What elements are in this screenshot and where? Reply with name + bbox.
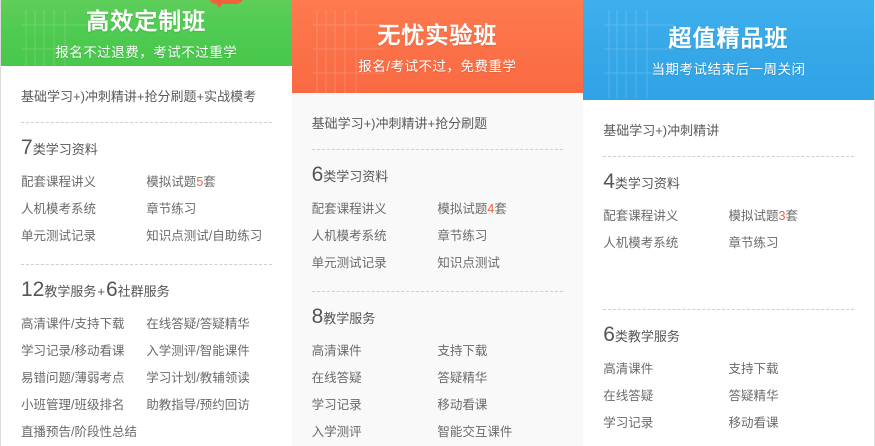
spacer <box>603 281 854 309</box>
list-item[interactable]: 在线答疑/答疑精华 <box>146 311 271 338</box>
list-item[interactable]: 支持下载 <box>437 338 563 365</box>
spacer <box>603 267 854 281</box>
divider <box>312 291 564 292</box>
plan-body-2: 基础学习+)冲刺精讲+抢分刷题 6类学习资料 配套课程讲义 模拟试题4套 人机模… <box>292 93 584 446</box>
plan-header-3: 超值精品班 当期考试结束后一周关闭 <box>583 0 874 100</box>
list-item[interactable]: 人机模考系统 <box>603 230 728 257</box>
list-item-text: 小班管理/班级排名 <box>21 398 124 412</box>
list-item-text: 移动看课 <box>437 398 487 412</box>
services-label-1: 教学服务 <box>44 284 96 299</box>
plan-body-1: 基础学习+)冲刺精讲+抢分刷题+实战模考 7类学习资料 配套课程讲义 模拟试题5… <box>1 66 292 446</box>
materials-list-2: 配套课程讲义 模拟试题4套 人机模考系统 章节练习 单元测试记录 知识点测试 <box>312 196 564 277</box>
list-item-text: 配套课程讲义 <box>21 175 96 189</box>
list-item[interactable]: 人机模考系统 <box>312 223 438 250</box>
plan-subtitle-1: 报名不过退费，考试不过重学 <box>1 41 292 65</box>
list-item[interactable]: 移动看课 <box>728 410 853 437</box>
list-item[interactable]: 入学测评/智能课件 <box>146 338 271 365</box>
list-item-text: 学习记录 <box>603 416 653 430</box>
list-item-text: 支持下载 <box>437 344 487 358</box>
list-item-suffix: 套 <box>785 209 798 223</box>
services-plus-1: + <box>96 284 106 299</box>
plan-combo-1: 基础学习+)冲刺精讲+抢分刷题+实战模考 <box>21 82 272 122</box>
list-item-text: 在线答疑 <box>603 389 653 403</box>
list-item[interactable]: 高清课件/支持下载 <box>21 311 146 338</box>
divider <box>603 156 854 157</box>
plan-header-text-2: 无忧实验班 报名/考试不过，免费重学 <box>292 15 584 79</box>
list-item[interactable]: 智能交互课件 <box>437 419 563 446</box>
list-item[interactable]: 章节练习 <box>437 223 563 250</box>
list-item-text: 人机模考系统 <box>21 202 96 216</box>
divider <box>603 309 854 310</box>
spacer <box>603 257 854 267</box>
services-label-3: 类教学服务 <box>615 329 680 344</box>
spacer <box>21 250 272 264</box>
list-item-suffix: 套 <box>203 175 216 189</box>
materials-heading-1: 7类学习资料 <box>21 135 272 163</box>
plan-header-1: 高效定制班 HOT 报名不过退费，考试不过重学 <box>1 0 292 66</box>
list-item-text: 高清课件 <box>312 344 362 358</box>
list-item-text: 答疑精华 <box>728 389 778 403</box>
list-item[interactable]: 章节练习 <box>146 196 271 223</box>
plan-comparison: 高效定制班 HOT 报名不过退费，考试不过重学 基础学习+)冲刺精讲+抢分刷题+… <box>0 0 875 446</box>
services-label-2: 教学服务 <box>323 311 375 326</box>
list-item[interactable]: 模拟试题5套 <box>146 169 271 196</box>
list-item[interactable]: 知识点测试/自助练习 <box>146 223 271 250</box>
list-item[interactable]: 配套课程讲义 <box>21 169 146 196</box>
services-count-1: 12 <box>21 278 44 301</box>
list-item[interactable]: 知识点测试 <box>437 250 563 277</box>
services-heading-3: 6类教学服务 <box>603 322 854 350</box>
services-list-3: 高清课件 支持下载 在线答疑 答疑精华 学习记录 移动看课 <box>603 356 854 437</box>
list-item-text: 答疑精华 <box>437 371 487 385</box>
services-label2-1: 社群服务 <box>118 284 170 299</box>
plan-subtitle-3: 当期考试结束后一周关闭 <box>583 58 874 82</box>
list-item[interactable]: 单元测试记录 <box>312 250 438 277</box>
plan-header-2: 无忧实验班 报名/考试不过，免费重学 <box>292 0 584 93</box>
list-item[interactable]: 模拟试题4套 <box>437 196 563 223</box>
spacer <box>312 277 564 291</box>
materials-label-3: 类学习资料 <box>615 176 680 191</box>
list-item[interactable]: 高清课件 <box>312 338 438 365</box>
list-item[interactable]: 学习记录/移动看课 <box>21 338 146 365</box>
list-item[interactable]: 直播预告/阶段性总结 <box>21 419 146 446</box>
plan-subtitle-2: 报名/考试不过，免费重学 <box>292 55 584 79</box>
services-heading-2: 8教学服务 <box>312 304 564 332</box>
list-item[interactable]: 在线答疑 <box>603 383 728 410</box>
materials-label-2: 类学习资料 <box>323 169 388 184</box>
plan-card-2[interactable]: 无忧实验班 报名/考试不过，免费重学 基础学习+)冲刺精讲+抢分刷题 6类学习资… <box>292 0 584 446</box>
plan-title-1: 高效定制班 HOT <box>86 5 206 37</box>
list-item[interactable]: 小班管理/班级排名 <box>21 392 146 419</box>
list-item-text: 入学测评/智能课件 <box>146 344 249 358</box>
list-item[interactable]: 支持下载 <box>728 356 853 383</box>
list-item-text: 模拟试题 <box>728 209 778 223</box>
plan-title-2: 无忧实验班 <box>377 19 497 51</box>
materials-list-3: 配套课程讲义 模拟试题3套 人机模考系统 章节练习 <box>603 203 854 257</box>
list-item[interactable]: 移动看课 <box>437 392 563 419</box>
list-item-text: 在线答疑/答疑精华 <box>146 317 249 331</box>
list-item[interactable]: 答疑精华 <box>728 383 853 410</box>
divider <box>21 264 272 265</box>
list-item-text: 智能交互课件 <box>437 425 512 439</box>
list-item[interactable]: 学习记录 <box>312 392 438 419</box>
list-item-text: 章节练习 <box>437 229 487 243</box>
plan-body-3: 基础学习+)冲刺精讲 4类学习资料 配套课程讲义 模拟试题3套 人机模考系统 章… <box>583 100 874 446</box>
list-item-text: 移动看课 <box>728 416 778 430</box>
list-item-text: 学习计划/教辅领读 <box>146 371 249 385</box>
materials-count-1: 7 <box>21 136 33 159</box>
list-item-text: 单元测试记录 <box>312 256 387 270</box>
list-item-text: 知识点测试/自助练习 <box>146 229 262 243</box>
list-item-text: 配套课程讲义 <box>603 209 678 223</box>
services-count-3: 6 <box>603 323 615 346</box>
materials-list-1: 配套课程讲义 模拟试题5套 人机模考系统 章节练习 单元测试记录 知识点测试/自… <box>21 169 272 250</box>
services-list-1: 高清课件/支持下载 在线答疑/答疑精华 学习记录/移动看课 入学测评/智能课件 … <box>21 311 272 446</box>
list-item[interactable]: 配套课程讲义 <box>312 196 438 223</box>
materials-count-2: 6 <box>312 163 324 186</box>
list-item[interactable]: 章节练习 <box>728 230 853 257</box>
list-item[interactable]: 单元测试记录 <box>21 223 146 250</box>
list-item-text: 入学测评 <box>312 425 362 439</box>
services-count-2: 8 <box>312 305 324 328</box>
list-item[interactable]: 模拟试题3套 <box>728 203 853 230</box>
divider <box>312 149 564 150</box>
list-item-text: 单元测试记录 <box>21 229 96 243</box>
list-item-text: 模拟试题 <box>146 175 196 189</box>
plan-title-text-1: 高效定制班 <box>86 8 206 34</box>
list-item-text: 高清课件 <box>603 362 653 376</box>
list-item-suffix: 套 <box>494 202 507 216</box>
list-item-text: 在线答疑 <box>312 371 362 385</box>
list-item-text: 直播预告/阶段性总结 <box>21 425 137 439</box>
plan-combo-3: 基础学习+)冲刺精讲 <box>603 116 854 156</box>
list-item-text: 学习记录/移动看课 <box>21 344 124 358</box>
services-list-2: 高清课件 支持下载 在线答疑 答疑精华 学习记录 移动看课 入学测评 智能交互课… <box>312 338 564 446</box>
list-item[interactable]: 人机模考系统 <box>21 196 146 223</box>
list-item[interactable]: 配套课程讲义 <box>603 203 728 230</box>
list-item-text: 支持下载 <box>728 362 778 376</box>
plan-header-text-1: 高效定制班 HOT 报名不过退费，考试不过重学 <box>1 1 292 65</box>
materials-heading-3: 4类学习资料 <box>603 169 854 197</box>
list-item-text: 人机模考系统 <box>603 236 678 250</box>
list-item[interactable]: 学习计划/教辅领读 <box>146 365 271 392</box>
plan-card-3[interactable]: 超值精品班 当期考试结束后一周关闭 基础学习+)冲刺精讲 4类学习资料 配套课程… <box>583 0 875 446</box>
list-item[interactable]: 高清课件 <box>603 356 728 383</box>
list-item-text: 配套课程讲义 <box>312 202 387 216</box>
list-item-text: 人机模考系统 <box>312 229 387 243</box>
divider <box>21 122 272 123</box>
plan-title-text-3: 超值精品班 <box>668 25 788 51</box>
list-item[interactable]: 入学测评 <box>312 419 438 446</box>
list-item-text: 模拟试题 <box>437 202 487 216</box>
plan-title-3: 超值精品班 <box>668 22 788 54</box>
list-item[interactable]: 易错问题/薄弱考点 <box>21 365 146 392</box>
materials-heading-2: 6类学习资料 <box>312 162 564 190</box>
materials-label-1: 类学习资料 <box>33 142 98 157</box>
list-item-text: 高清课件/支持下载 <box>21 317 124 331</box>
list-item[interactable]: 学习记录 <box>603 410 728 437</box>
list-item-text: 章节练习 <box>728 236 778 250</box>
plan-combo-2: 基础学习+)冲刺精讲+抢分刷题 <box>312 109 564 149</box>
list-item-text: 易错问题/薄弱考点 <box>21 371 124 385</box>
services-count2-1: 6 <box>106 278 118 301</box>
list-item[interactable]: 在线答疑 <box>312 365 438 392</box>
services-heading-1: 12教学服务+6社群服务 <box>21 277 272 305</box>
list-item-text: 学习记录 <box>312 398 362 412</box>
plan-header-text-3: 超值精品班 当期考试结束后一周关闭 <box>583 18 874 82</box>
hot-badge: HOT <box>208 0 245 4</box>
plan-title-text-2: 无忧实验班 <box>377 22 497 48</box>
list-item-text: 知识点测试 <box>437 256 500 270</box>
list-item-text: 助教指导/预约回访 <box>146 398 249 412</box>
plan-card-1[interactable]: 高效定制班 HOT 报名不过退费，考试不过重学 基础学习+)冲刺精讲+抢分刷题+… <box>0 0 292 446</box>
list-item[interactable]: 助教指导/预约回访 <box>146 392 271 419</box>
list-item-text: 章节练习 <box>146 202 196 216</box>
list-item[interactable]: 答疑精华 <box>437 365 563 392</box>
materials-count-3: 4 <box>603 170 615 193</box>
